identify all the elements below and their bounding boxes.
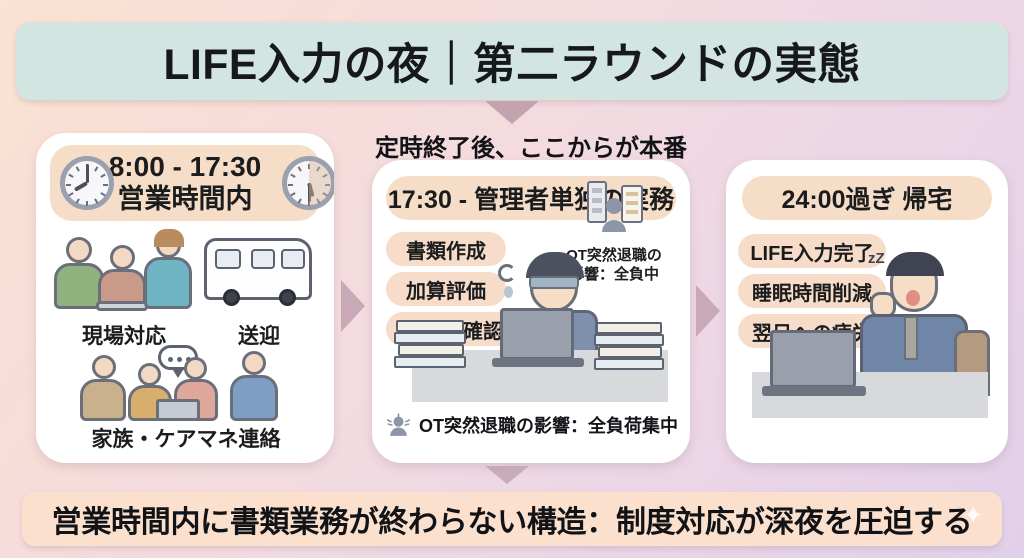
infographic-root: LIFE入力の夜｜第二ラウンドの実態 定時終了後、ここからが本番 8:00 - …: [0, 0, 1024, 558]
panel-midnight-header: 24:00過ぎ 帰宅: [742, 176, 992, 220]
stressed-person-icon: [386, 410, 411, 440]
arrow-down-icon: [485, 101, 539, 124]
panel-midnight: 24:00過ぎ 帰宅 LIFE入力完了 睡眠時間削減 翌日への疲労 zZ: [726, 160, 1008, 463]
sparkle-icon: ✦: [962, 500, 984, 531]
clock-8-oclock-icon: [60, 156, 114, 210]
daytime-hours: 8:00 - 17:30: [109, 151, 262, 183]
sleep-marks: zZ: [868, 250, 884, 270]
clock-530-icon: [282, 156, 334, 210]
illustration-yawning-worker: zZ: [740, 252, 996, 448]
chip-kasan-hyouka: 加算評価: [386, 272, 506, 306]
laptop-screen: [500, 308, 574, 360]
bottom-banner-text: 営業時間内に書類業務が終わらない構造：制度対応が深夜を圧迫する: [52, 497, 973, 541]
evening-caption: OT突然退職の影響：全負荷集中: [386, 408, 678, 442]
laptop-base: [492, 358, 584, 367]
chip-shorui-sakusei: 書類作成: [386, 232, 506, 266]
arrow-down-icon-bottom: [485, 466, 529, 484]
label-kazoku-caremane: 家族・ケアマネ連絡: [58, 423, 314, 453]
panel-daytime: 8:00 - 17:30 営業時間内: [36, 133, 334, 463]
arrow-right-icon-1: [341, 280, 365, 332]
illustration-van: [204, 238, 312, 300]
evening-caption-text: OT突然退職の影響：全負荷集中: [419, 412, 678, 438]
panel-evening: 17:30 - 管理者単独の実務 書類作成 加算評価 整合性確認 OT突然退職の…: [372, 160, 690, 463]
bottom-banner: 営業時間内に書類業務が終わらない構造：制度対応が深夜を圧迫する ✦: [22, 492, 1002, 546]
step-label: 定時終了後、ここからが本番: [372, 128, 690, 163]
arrow-right-icon-2: [696, 285, 720, 337]
title-bar: LIFE入力の夜｜第二ラウンドの実態: [16, 22, 1008, 100]
daytime-subtitle: 営業時間内: [118, 183, 253, 215]
documents-person-icon: [586, 180, 644, 236]
page-title: LIFE入力の夜｜第二ラウンドの実態: [163, 30, 860, 92]
label-sougei: 送迎: [204, 320, 314, 350]
